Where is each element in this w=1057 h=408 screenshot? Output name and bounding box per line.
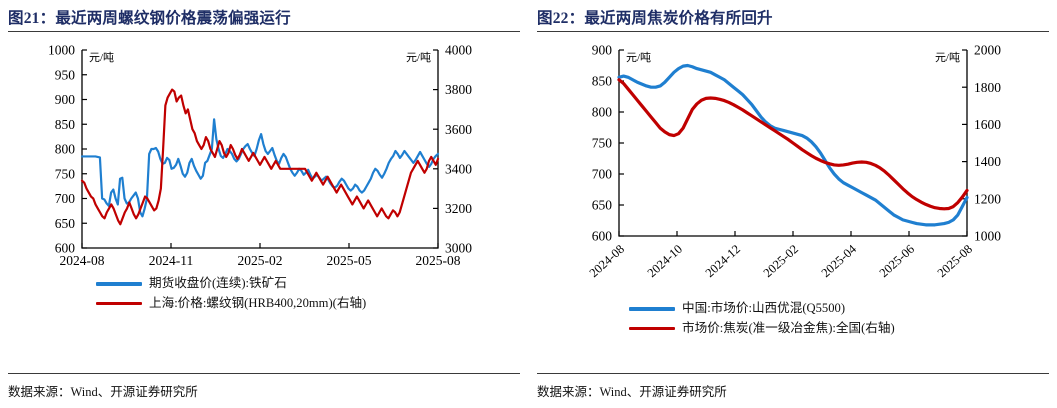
- figure-label-21: 图21：: [8, 10, 55, 27]
- svg-text:1000: 1000: [974, 229, 1001, 244]
- figure-panel-22: 图22：最近两周焦炭价格有所回升 60065070075080085090010…: [529, 0, 1057, 408]
- legend-swatch-red: [629, 327, 675, 330]
- svg-text:元/吨: 元/吨: [626, 51, 651, 64]
- svg-text:900: 900: [592, 43, 613, 58]
- svg-text:800: 800: [592, 105, 613, 120]
- chart-legend-22: 中国:市场价:山西优混(Q5500) 市场价:焦炭(准一级冶金焦):全国(右轴): [529, 302, 1057, 342]
- svg-text:2024-08: 2024-08: [60, 253, 105, 268]
- legend-item: 上海:价格:螺纹钢(HRB400,20mm)(右轴): [96, 297, 528, 311]
- svg-text:950: 950: [55, 67, 76, 82]
- svg-text:1800: 1800: [974, 80, 1001, 95]
- source-note-21: 数据来源：Wind、开源证券研究所: [8, 381, 198, 400]
- svg-text:2024-12: 2024-12: [703, 242, 743, 280]
- svg-text:2000: 2000: [974, 43, 1001, 58]
- legend-swatch-blue: [96, 282, 142, 285]
- legend-item: 市场价:焦炭(准一级冶金焦):全国(右轴): [629, 322, 1057, 336]
- svg-text:2025-05: 2025-05: [327, 253, 372, 268]
- chart-legend-21: 期货收盘价(连续):铁矿石 上海:价格:螺纹钢(HRB400,20mm)(右轴): [0, 277, 528, 317]
- svg-text:900: 900: [55, 92, 76, 107]
- svg-text:650: 650: [55, 216, 76, 231]
- legend-swatch-red: [96, 302, 142, 305]
- title-divider-21: [8, 31, 520, 32]
- source-note-22: 数据来源：Wind、开源证券研究所: [537, 381, 727, 400]
- svg-text:1200: 1200: [974, 191, 1001, 206]
- svg-text:700: 700: [55, 191, 76, 206]
- svg-text:3400: 3400: [445, 161, 472, 176]
- figure-label-22: 图22：: [537, 10, 584, 27]
- line-chart-22: 6006507007508008509001000120014001600180…: [529, 38, 1057, 298]
- legend-label: 上海:价格:螺纹钢(HRB400,20mm)(右轴): [149, 297, 366, 311]
- figure-panel-21: 图21：最近两周螺纹钢价格震荡偏强运行 60065070075080085090…: [0, 0, 528, 408]
- svg-text:1400: 1400: [974, 154, 1001, 169]
- legend-label: 期货收盘价(连续):铁矿石: [149, 277, 287, 291]
- svg-text:1000: 1000: [48, 43, 75, 58]
- chart-area-21: 6006507007508008509009501000300032003400…: [0, 38, 528, 368]
- legend-swatch-blue: [629, 307, 675, 310]
- svg-text:850: 850: [592, 74, 613, 89]
- figure-page: 图21：最近两周螺纹钢价格震荡偏强运行 60065070075080085090…: [0, 0, 1057, 408]
- svg-text:2024-11: 2024-11: [149, 253, 194, 268]
- figure-title-text-22: 最近两周焦炭价格有所回升: [584, 10, 772, 27]
- title-divider-22: [537, 31, 1049, 32]
- svg-text:750: 750: [592, 136, 613, 151]
- svg-text:元/吨: 元/吨: [89, 51, 114, 64]
- svg-text:2025-08: 2025-08: [935, 242, 975, 280]
- svg-text:1600: 1600: [974, 117, 1001, 132]
- svg-text:650: 650: [592, 198, 613, 213]
- svg-text:3800: 3800: [445, 82, 472, 97]
- legend-label: 市场价:焦炭(准一级冶金焦):全国(右轴): [682, 322, 895, 336]
- svg-text:3200: 3200: [445, 201, 472, 216]
- svg-text:800: 800: [55, 142, 76, 157]
- svg-text:2025-02: 2025-02: [761, 242, 801, 280]
- svg-text:750: 750: [55, 166, 76, 181]
- svg-text:2025-06: 2025-06: [877, 242, 917, 280]
- svg-text:元/吨: 元/吨: [406, 51, 431, 64]
- svg-text:2025-08: 2025-08: [416, 253, 461, 268]
- svg-text:2024-08: 2024-08: [587, 242, 627, 280]
- svg-text:3600: 3600: [445, 122, 472, 137]
- svg-text:2024-10: 2024-10: [645, 242, 685, 280]
- figure-title-22: 图22：最近两周焦炭价格有所回升: [537, 6, 1049, 28]
- svg-text:2025-04: 2025-04: [819, 241, 860, 280]
- svg-text:4000: 4000: [445, 43, 472, 58]
- svg-text:元/吨: 元/吨: [935, 51, 960, 64]
- legend-item: 中国:市场价:山西优混(Q5500): [629, 302, 1057, 316]
- legend-item: 期货收盘价(连续):铁矿石: [96, 277, 528, 291]
- svg-text:700: 700: [592, 167, 613, 182]
- svg-text:850: 850: [55, 117, 76, 132]
- line-chart-21: 6006507007508008509009501000300032003400…: [0, 38, 528, 278]
- legend-label: 中国:市场价:山西优混(Q5500): [682, 302, 845, 316]
- figure-title-text-21: 最近两周螺纹钢价格震荡偏强运行: [55, 10, 291, 27]
- figure-title-21: 图21：最近两周螺纹钢价格震荡偏强运行: [8, 6, 520, 28]
- footer-divider-21: [8, 373, 520, 374]
- svg-text:2025-02: 2025-02: [238, 253, 283, 268]
- footer-divider-22: [537, 373, 1049, 374]
- svg-text:600: 600: [592, 229, 613, 244]
